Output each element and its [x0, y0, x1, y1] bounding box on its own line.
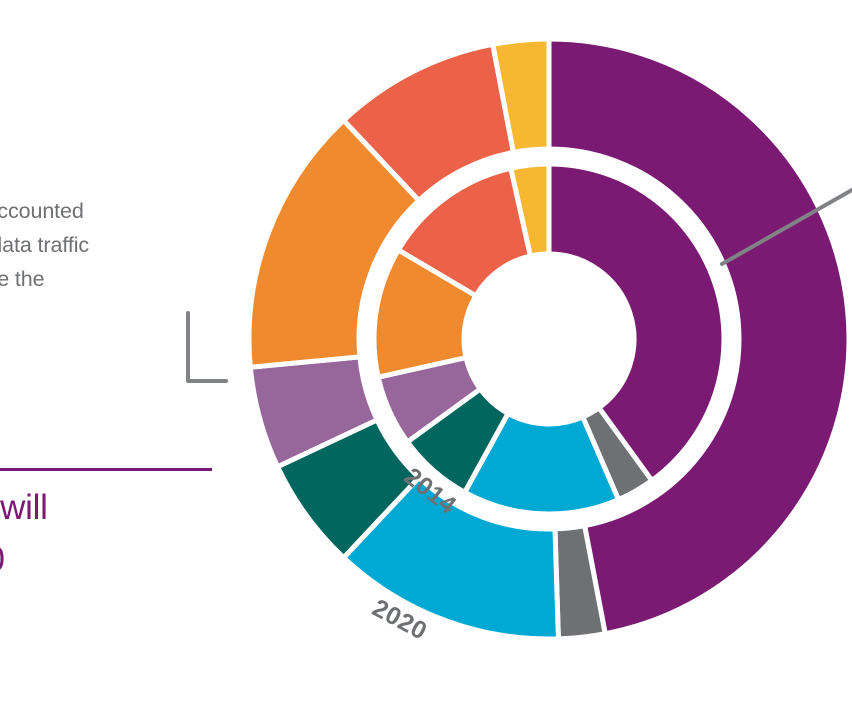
infographic-root: 2020 2014 ...orking accounted ...mobile … — [0, 0, 852, 702]
donut-chart: 2020 2014 — [0, 0, 852, 702]
callout-bottom-rest: will in 2020 — [0, 488, 48, 579]
callout-divider-rule — [0, 468, 212, 471]
callout-top-text: ...orking accounted ...mobile data traff… — [0, 194, 214, 330]
callout-bottom-text: ...affic will in 2020 — [0, 482, 222, 586]
donut-ring-2014 — [374, 164, 724, 514]
donut-ring-2020 — [249, 39, 849, 639]
